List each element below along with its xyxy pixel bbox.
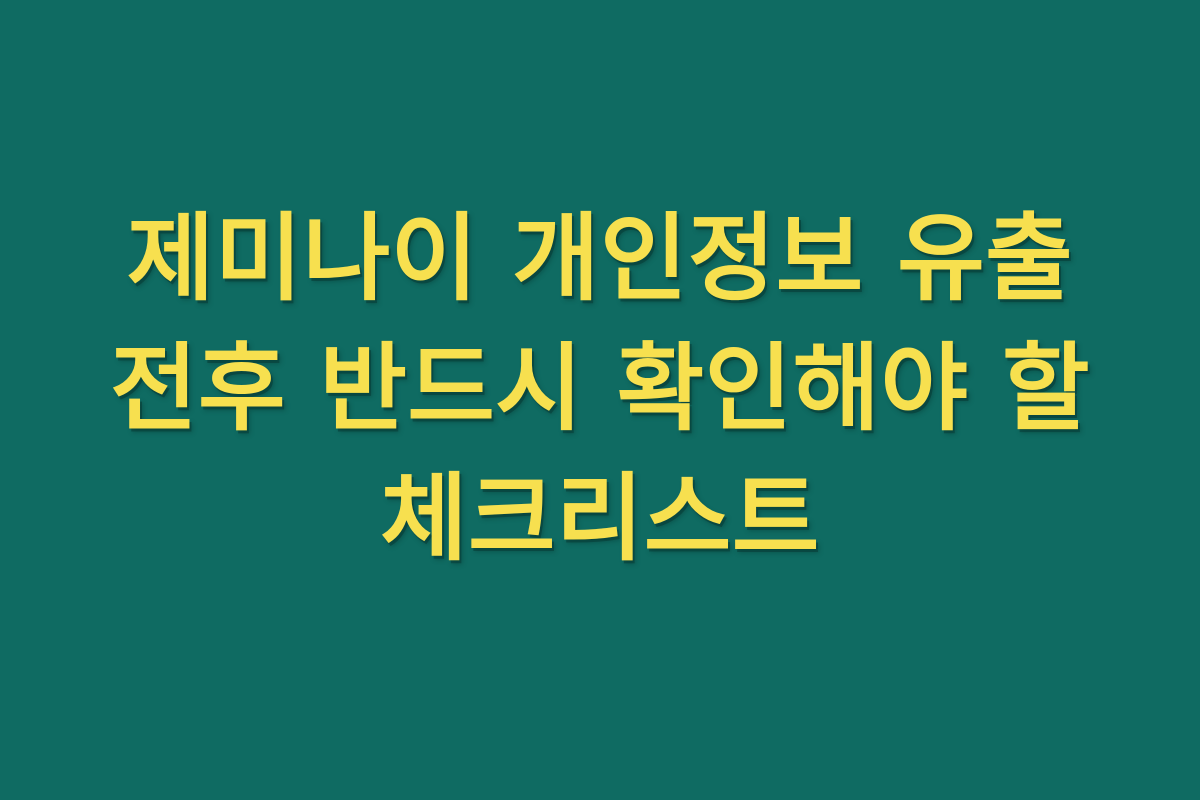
title-line-3: 체크리스트 xyxy=(70,454,1130,584)
title-text-block: 제미나이 개인정보 유출 전후 반드시 확인해야 할 체크리스트 xyxy=(50,194,1150,584)
title-line-2: 전후 반드시 확인해야 할 xyxy=(70,324,1130,454)
title-card: 제미나이 개인정보 유출 전후 반드시 확인해야 할 체크리스트 xyxy=(0,0,1200,800)
title-line-1: 제미나이 개인정보 유출 xyxy=(70,194,1130,324)
